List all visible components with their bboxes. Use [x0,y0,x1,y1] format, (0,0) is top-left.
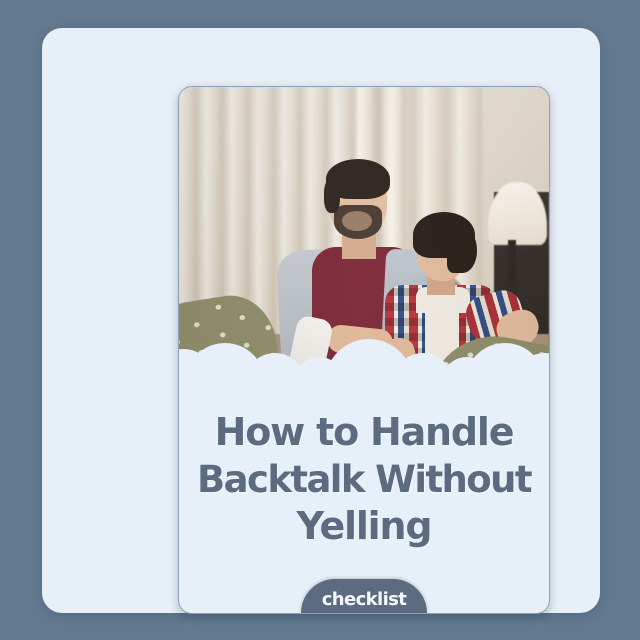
checklist-badge-label: checklist [301,589,427,610]
title-line-2: Backtalk Without [179,456,549,503]
title-line-1: How to Handle [179,409,549,456]
cloud-text-panel: How to Handle Backtalk Without Yelling c… [179,375,549,613]
title-line-3: Yelling [179,503,549,550]
photo-card: How to Handle Backtalk Without Yelling c… [178,86,550,614]
pin-graphic-canvas: How to Handle Backtalk Without Yelling c… [0,0,640,640]
checklist-badge[interactable]: checklist [301,579,427,613]
father-sideburn [324,179,340,213]
boy-hair-back [447,227,477,273]
father-chin [342,211,372,231]
outer-card: How to Handle Backtalk Without Yelling c… [42,28,600,613]
page-title: How to Handle Backtalk Without Yelling [179,409,549,550]
cloud-scallop-edge [179,335,549,391]
